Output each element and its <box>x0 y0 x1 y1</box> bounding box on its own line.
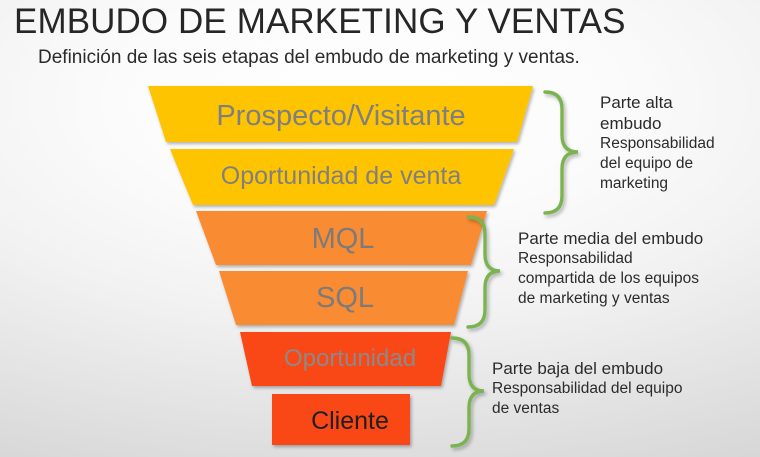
funnel-stage-2 <box>170 149 514 205</box>
annotation-top: Parte alta embudo Responsabilidad del eq… <box>600 92 760 194</box>
funnel-stage-1-label: Prospecto/Visitante <box>148 100 534 133</box>
funnel-stage-6-label: Cliente <box>260 407 440 436</box>
funnel-stage-2-label: Oportunidad de venta <box>168 162 514 191</box>
page-subtitle: Definición de las seis etapas del embudo… <box>38 46 580 70</box>
annotation-bottom-body: Responsabilidad del equipo de ventas <box>492 379 760 419</box>
annotation-bottom: Parte baja del embudo Responsabilidad de… <box>492 358 760 419</box>
funnel-stage-6 <box>272 394 410 445</box>
bracket-top <box>545 92 578 213</box>
funnel-stage-3 <box>196 211 487 265</box>
funnel-left-curve-mask <box>120 80 258 457</box>
annotation-middle-body: Responsabilidad compartida de los equipo… <box>518 249 760 309</box>
annotation-top-heading: Parte alta embudo <box>600 92 760 134</box>
slide-canvas: EMBUDO DE MARKETING Y VENTAS Definición … <box>0 0 760 457</box>
bracket-middle <box>468 217 500 327</box>
funnel-stage-4 <box>219 271 468 325</box>
annotation-middle: Parte media del embudo Responsabilidad c… <box>518 228 760 309</box>
page-title: EMBUDO DE MARKETING Y VENTAS <box>14 2 626 42</box>
bracket-bottom <box>452 338 484 446</box>
annotation-bottom-heading: Parte baja del embudo <box>492 358 760 379</box>
funnel-stage-5 <box>240 332 451 386</box>
funnel-stage-5-label: Oportunidad <box>250 345 450 373</box>
funnel-stage-1 <box>148 86 533 142</box>
annotation-middle-heading: Parte media del embudo <box>518 228 760 249</box>
funnel-stage-3-label: MQL <box>200 223 486 256</box>
annotation-top-body: Responsabilidad del equipo de marketing <box>600 134 760 194</box>
funnel-stage-4-label: SQL <box>222 282 468 315</box>
